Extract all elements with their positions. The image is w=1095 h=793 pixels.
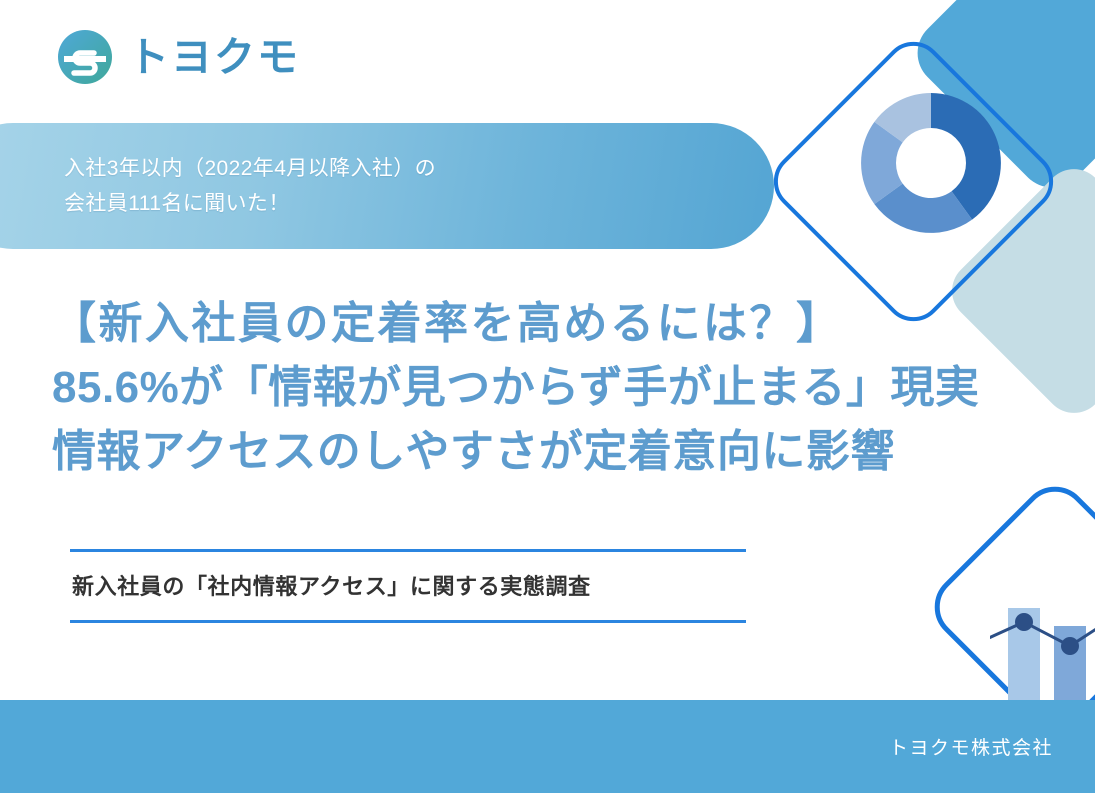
donut-chart-decoration bbox=[856, 88, 1006, 238]
subtitle-text: 新入社員の「社内情報アクセス」に関する実態調査 bbox=[70, 552, 746, 620]
bar-chart-decoration bbox=[990, 580, 1095, 705]
decorative-square-outline-top bbox=[761, 29, 1065, 333]
brand-logo: トヨクモ bbox=[56, 28, 300, 86]
footer-bar: トヨクモ株式会社 bbox=[0, 700, 1095, 793]
toyokumo-circle-logo-icon bbox=[56, 28, 114, 86]
headline-line-2: 85.6%が「情報が見つからず手が止まる」現実 bbox=[52, 356, 952, 420]
rule-bottom bbox=[70, 620, 746, 623]
subtitle-block: 新入社員の「社内情報アクセス」に関する実態調査 bbox=[70, 549, 746, 623]
page-title: 【新入社員の定着率を高めるには？】 85.6%が「情報が見つからず手が止まる」現… bbox=[52, 292, 952, 483]
survey-banner: 入社3年以内（2022年4月以降入社）の 会社員111名に聞いた！ bbox=[0, 123, 774, 249]
brand-logo-text: トヨクモ bbox=[128, 37, 300, 78]
headline-line-1: 【新入社員の定着率を高めるには？】 bbox=[52, 292, 952, 356]
footer-company-name: トヨクモ株式会社 bbox=[889, 733, 1053, 760]
headline-line-3: 情報アクセスのしやすさが定着意向に影響 bbox=[52, 420, 952, 484]
decorative-square-medium-blue bbox=[904, 0, 1095, 201]
poster-canvas: トヨクモ 入社3年以内（2022年4月以降入社）の 会社員111名に聞いた！ 【… bbox=[0, 0, 1095, 793]
survey-banner-text: 入社3年以内（2022年4月以降入社）の 会社員111名に聞いた！ bbox=[64, 151, 436, 222]
